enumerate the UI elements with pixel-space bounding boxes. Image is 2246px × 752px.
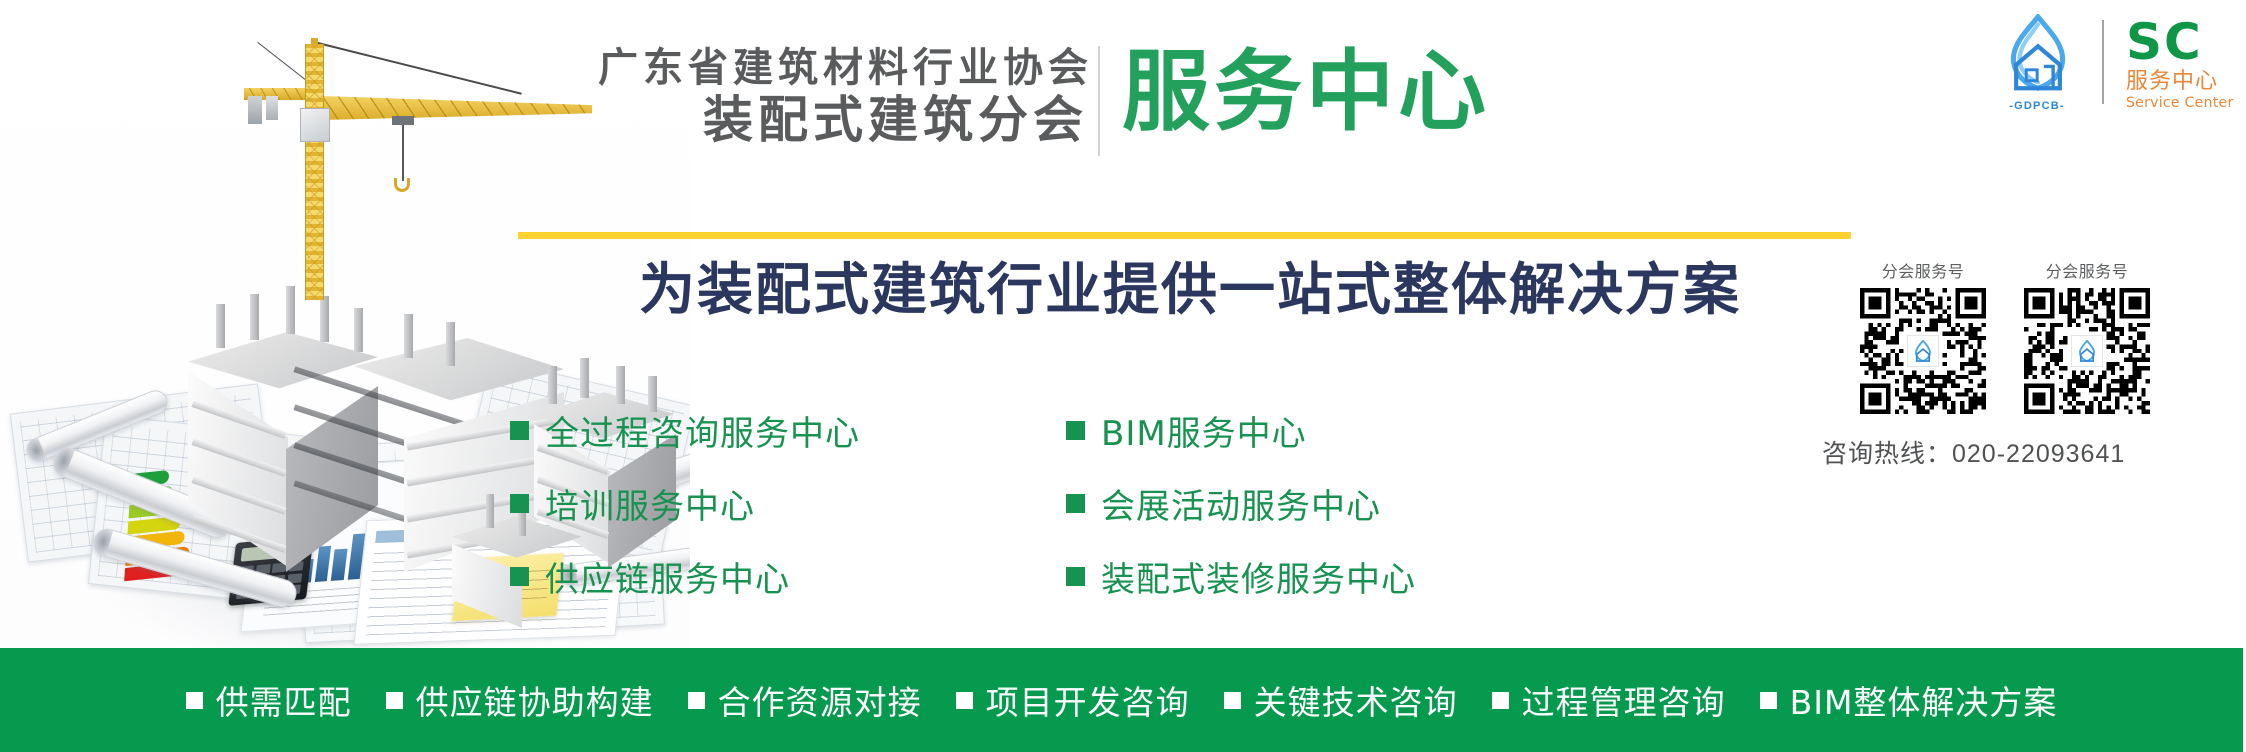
sc-abbrev: SC [2126, 16, 2246, 68]
square-bullet-icon [1760, 692, 1777, 709]
footer-bar: 供需匹配 供应链协助构建 合作资源对接 项目开发咨询 关键技术咨询 过程管理咨询 [0, 648, 2243, 752]
square-bullet-icon [688, 692, 705, 709]
service-item-label: 全过程咨询服务中心 [545, 406, 860, 455]
footer-item-list: 供需匹配 供应链协助构建 合作资源对接 项目开发咨询 关键技术咨询 过程管理咨询 [186, 676, 2058, 724]
gdpcb-logo: -GDPCB- [1984, 14, 2090, 112]
association-name: 广东省建筑材料行业协会 装配式建筑分会 [598, 44, 1088, 148]
footer-item[interactable]: 过程管理咨询 [1492, 676, 1726, 724]
square-bullet-icon [956, 692, 973, 709]
square-bullet-icon [1492, 692, 1509, 709]
footer-item[interactable]: 合作资源对接 [688, 676, 922, 724]
vertical-divider [1098, 46, 1100, 156]
crane-tie-bar [318, 42, 522, 95]
crane-jib [322, 96, 592, 120]
sc-english-label: Service Center [2126, 94, 2246, 112]
footer-item-label: BIM整体解决方案 [1790, 676, 2058, 724]
footer-item[interactable]: 供需匹配 [186, 676, 352, 724]
association-line1: 广东省建筑材料行业协会 [598, 44, 1088, 92]
square-bullet-icon [510, 421, 529, 440]
service-item-label: 供应链服务中心 [545, 552, 790, 601]
gold-divider-rule [518, 232, 1851, 239]
qr-code-item: 分会服务号 [2024, 258, 2150, 414]
footer-item-label: 项目开发咨询 [986, 676, 1190, 724]
service-item: 装配式装修服务中心 [1066, 552, 1496, 601]
qr-code-caption: 分会服务号 [2024, 258, 2150, 282]
service-center-title: 服务中心 [1122, 42, 1490, 142]
square-bullet-icon [1066, 567, 1085, 586]
footer-item-label: 供需匹配 [216, 676, 352, 724]
content-area: 广东省建筑材料行业协会 装配式建筑分会 服务中心 为装配式建筑行业提供一站式整体… [690, 0, 2246, 648]
banner-root: 广东省建筑材料行业协会 装配式建筑分会 服务中心 为装配式建筑行业提供一站式整体… [0, 0, 2246, 752]
square-bullet-icon [1224, 692, 1241, 709]
sc-chinese-label: 服务中心 [2126, 68, 2246, 94]
crane-cable [402, 125, 404, 181]
flame-house-icon [2075, 340, 2099, 362]
square-bullet-icon [186, 692, 203, 709]
footer-item-label: 供应链协助构建 [416, 676, 654, 724]
square-bullet-icon [1066, 494, 1085, 513]
footer-item-label: 合作资源对接 [718, 676, 922, 724]
service-item: 供应链服务中心 [510, 552, 940, 601]
crane-trolley [392, 116, 414, 125]
gdpcb-caption: -GDPCB- [1984, 100, 2090, 112]
qr-code-item: 分会服务号 [1860, 258, 1986, 414]
footer-item[interactable]: 供应链协助构建 [386, 676, 654, 724]
square-bullet-icon [510, 567, 529, 586]
square-bullet-icon [386, 692, 403, 709]
service-item: 会展活动服务中心 [1066, 479, 1496, 528]
service-item: 培训服务中心 [510, 479, 940, 528]
sc-logo: -GDPCB- SC 服务中心 Service Center [1980, 8, 2246, 112]
service-item-label: 会展活动服务中心 [1101, 479, 1381, 528]
crane-counterweight [248, 96, 262, 124]
service-item-label: 培训服务中心 [545, 479, 755, 528]
footer-item[interactable]: BIM整体解决方案 [1760, 676, 2058, 724]
crane-hook [394, 178, 410, 192]
qr-center-logo [1907, 335, 1939, 367]
footer-item[interactable]: 关键技术咨询 [1224, 676, 1458, 724]
flame-house-icon [1996, 14, 2080, 92]
qr-code-caption: 分会服务号 [1860, 258, 1986, 282]
sc-text-block: SC 服务中心 Service Center [2126, 16, 2246, 112]
crane-mast [305, 44, 324, 300]
qr-code-block: 分会服务号 分会服务号 [1836, 258, 2246, 428]
association-line2: 装配式建筑分会 [598, 92, 1088, 148]
footer-item-label: 关键技术咨询 [1254, 676, 1458, 724]
flame-house-icon [1911, 340, 1935, 362]
service-item-label: 装配式装修服务中心 [1101, 552, 1416, 601]
service-item: BIM服务中心 [1066, 406, 1496, 455]
footer-item[interactable]: 项目开发咨询 [956, 676, 1190, 724]
footer-item-label: 过程管理咨询 [1522, 676, 1726, 724]
main-slogan: 为装配式建筑行业提供一站式整体解决方案 [520, 256, 1860, 324]
crane-cab [300, 108, 330, 142]
service-item: 全过程咨询服务中心 [510, 406, 940, 455]
service-item-label: BIM服务中心 [1101, 406, 1307, 455]
service-list: 全过程咨询服务中心 BIM服务中心 培训服务中心 会展活动服务中心 供应链服务中… [510, 406, 1580, 601]
qr-code-image[interactable] [1860, 288, 1986, 414]
qr-center-logo [2071, 335, 2103, 367]
square-bullet-icon [1066, 421, 1085, 440]
hotline-text: 咨询热线：020-22093641 [1822, 434, 2222, 470]
crane-counterweight [266, 96, 278, 120]
logo-divider [2102, 20, 2104, 104]
square-bullet-icon [510, 494, 529, 513]
qr-code-image[interactable] [2024, 288, 2150, 414]
